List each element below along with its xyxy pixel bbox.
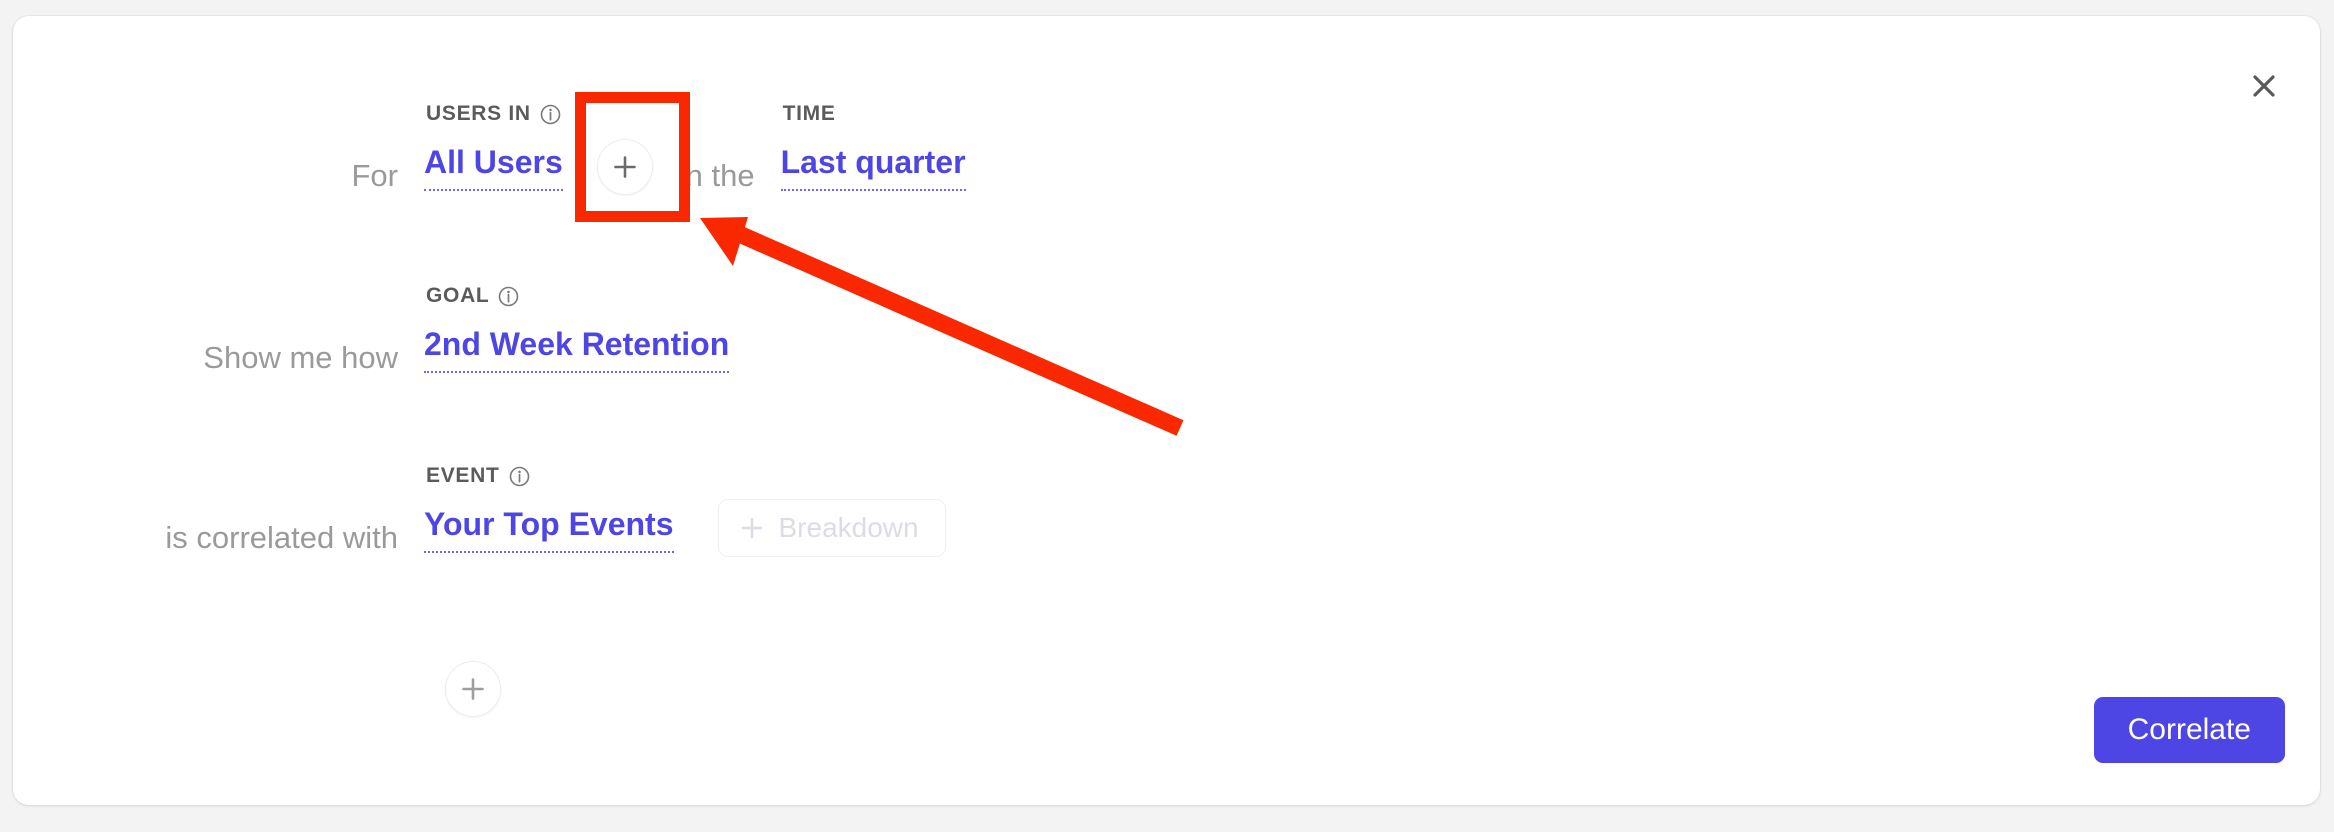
plus-icon bbox=[612, 154, 638, 180]
plus-icon bbox=[460, 676, 486, 702]
correlate-button[interactable]: Correlate bbox=[2094, 697, 2285, 763]
time-label: TIME bbox=[783, 102, 836, 126]
breakdown-label: Breakdown bbox=[779, 512, 919, 544]
info-icon[interactable] bbox=[498, 286, 519, 307]
time-field: TIME Last quarter bbox=[781, 144, 966, 201]
goal-label: GOAL bbox=[426, 284, 489, 308]
users-in-field: USERS IN All Users bbox=[424, 144, 563, 201]
row-prefix-show-me-how: Show me how bbox=[13, 342, 398, 383]
query-row-users: For USERS IN All Users bbox=[13, 131, 966, 201]
users-in-label: USERS IN bbox=[426, 102, 531, 126]
info-icon[interactable] bbox=[540, 104, 561, 125]
goal-field: GOAL 2nd Week Retention bbox=[424, 326, 729, 383]
row-connector-in-the: in the bbox=[679, 160, 755, 201]
close-icon bbox=[2249, 71, 2279, 101]
correlation-query-card: For USERS IN All Users bbox=[13, 16, 2320, 805]
time-field-header: TIME bbox=[783, 102, 836, 126]
plus-icon bbox=[739, 515, 765, 541]
users-in-field-header: USERS IN bbox=[426, 102, 561, 126]
query-row-event: is correlated with EVENT Your Top Events bbox=[13, 493, 946, 563]
users-in-value[interactable]: All Users bbox=[424, 144, 563, 191]
event-label: EVENT bbox=[426, 464, 500, 488]
add-query-row-button[interactable] bbox=[445, 661, 501, 717]
goal-field-header: GOAL bbox=[426, 284, 519, 308]
event-value[interactable]: Your Top Events bbox=[424, 506, 674, 553]
time-value[interactable]: Last quarter bbox=[781, 144, 966, 191]
close-button[interactable] bbox=[2242, 64, 2286, 108]
row-prefix-for: For bbox=[13, 160, 398, 201]
info-icon[interactable] bbox=[509, 466, 530, 487]
event-field: EVENT Your Top Events bbox=[424, 506, 674, 563]
event-field-header: EVENT bbox=[426, 464, 530, 488]
add-cohort-button[interactable] bbox=[597, 139, 653, 195]
row-prefix-is-correlated-with: is correlated with bbox=[13, 522, 398, 563]
query-row-goal: Show me how GOAL 2nd Week Retention bbox=[13, 313, 729, 383]
goal-value[interactable]: 2nd Week Retention bbox=[424, 326, 729, 373]
breakdown-button[interactable]: Breakdown bbox=[718, 499, 946, 557]
